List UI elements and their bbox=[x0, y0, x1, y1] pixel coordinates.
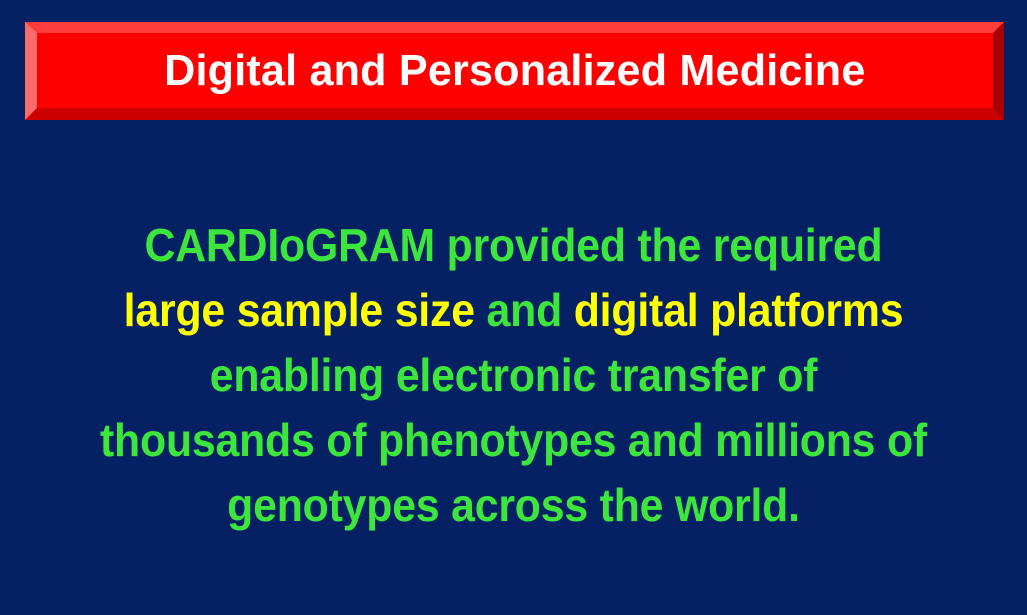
slide-title-text: Digital and Personalized Medicine bbox=[164, 49, 865, 93]
presentation-slide: Digital and Personalized Medicine CARDIo… bbox=[0, 0, 1027, 615]
body-line-2: large sample size and digital platforms bbox=[36, 278, 991, 343]
body-line-2-segment-1: large sample size bbox=[124, 284, 475, 336]
slide-title-banner: Digital and Personalized Medicine bbox=[25, 22, 1004, 120]
body-line-2-segment-3: digital platforms bbox=[574, 284, 904, 336]
body-line-1-segment-1: CARDIoGRAM provided the required bbox=[145, 219, 883, 271]
slide-body-text-block: CARDIoGRAM provided the required large s… bbox=[0, 213, 1027, 538]
body-line-4-segment-1: thousands of phenotypes and millions of bbox=[100, 414, 927, 466]
body-line-5-segment-1: genotypes across the world. bbox=[227, 479, 800, 531]
body-line-3-segment-1: enabling electronic transfer of bbox=[210, 349, 818, 401]
body-line-4: thousands of phenotypes and millions of bbox=[36, 408, 991, 473]
body-line-3: enabling electronic transfer of bbox=[36, 343, 991, 408]
body-line-2-segment-2: and bbox=[475, 284, 574, 336]
body-line-5: genotypes across the world. bbox=[36, 473, 991, 538]
body-line-1: CARDIoGRAM provided the required bbox=[36, 213, 991, 278]
